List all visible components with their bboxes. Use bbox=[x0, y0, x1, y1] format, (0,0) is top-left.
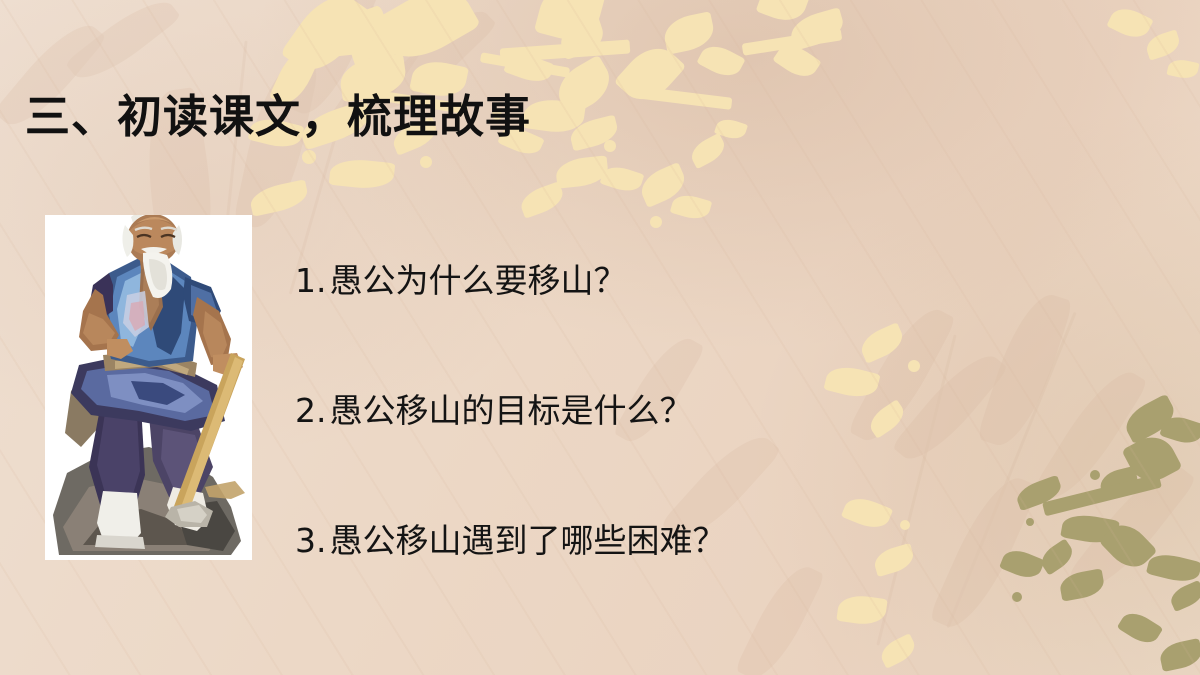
figurine-image bbox=[45, 215, 252, 560]
question-number-2: 2. bbox=[295, 391, 327, 430]
question-item-3: 3.愚公移山遇到了哪些困难？ bbox=[295, 522, 995, 560]
yugong-statue-illustration bbox=[45, 215, 252, 560]
question-item-1: 1.愚公为什么要移山？ bbox=[295, 262, 995, 300]
slide: 三、初读课文，梳理故事 bbox=[0, 0, 1200, 675]
question-item-2: 2.愚公移山的目标是什么？ bbox=[295, 392, 995, 430]
question-number-3: 3. bbox=[295, 521, 327, 560]
question-text-3: 愚公移山遇到了哪些困难？ bbox=[330, 521, 726, 560]
question-text-1: 愚公为什么要移山？ bbox=[330, 261, 627, 300]
question-text-2: 愚公移山的目标是什么？ bbox=[330, 391, 693, 430]
question-list: 1.愚公为什么要移山？ 2.愚公移山的目标是什么？ 3.愚公移山遇到了哪些困难？ bbox=[295, 262, 995, 560]
question-number-1: 1. bbox=[295, 261, 327, 300]
page-title: 三、初读课文，梳理故事 bbox=[25, 92, 531, 142]
